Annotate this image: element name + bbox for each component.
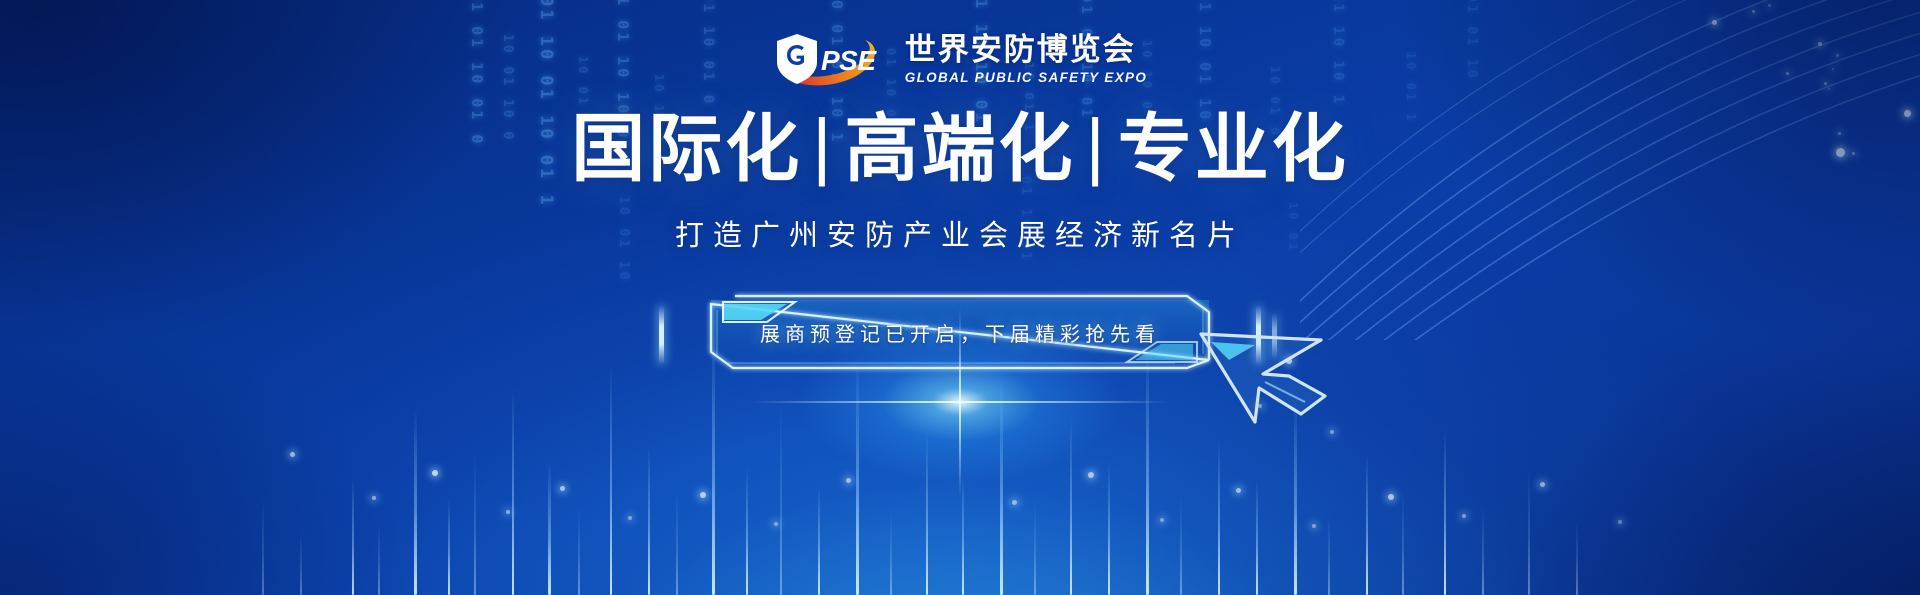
headline-separator-1: |: [802, 104, 844, 187]
headline-separator-2: |: [1076, 104, 1118, 187]
page-title: 国际化|高端化|专业化: [571, 112, 1348, 186]
mouse-cursor-icon: [1193, 318, 1343, 436]
cta-accent-bar-left: [659, 306, 664, 364]
cta-banner[interactable]: 展商预登记已开启，下届精彩抢先看: [695, 290, 1225, 374]
cta-label: 展商预登记已开启，下届精彩抢先看: [695, 290, 1225, 374]
logo-text-block: 世界安防博览会 GLOBAL PUBLIC SAFETY EXPO: [905, 33, 1148, 85]
psexpo-hero-banner: 01 01 10 01 0 10 01 10 0 01 10 01 10 01 …: [0, 0, 1920, 595]
headline-part-2: 高端化: [845, 107, 1076, 190]
banner-content: PSE 世界安防博览会 GLOBAL PUBLIC SAFETY EXPO 国际…: [0, 0, 1920, 595]
svg-text:PSE: PSE: [821, 45, 877, 76]
headline-part-3: 专业化: [1118, 107, 1349, 190]
gpse-shield-logo: PSE: [773, 28, 891, 90]
logo-title-en: GLOBAL PUBLIC SAFETY EXPO: [905, 70, 1148, 85]
headline-part-1: 国际化: [571, 107, 802, 190]
brand-logo-lockup[interactable]: PSE 世界安防博览会 GLOBAL PUBLIC SAFETY EXPO: [773, 28, 1148, 90]
page-subtitle: 打造广州安防产业会展经济新名片: [675, 212, 1245, 254]
logo-title-cn: 世界安防博览会: [905, 33, 1136, 68]
